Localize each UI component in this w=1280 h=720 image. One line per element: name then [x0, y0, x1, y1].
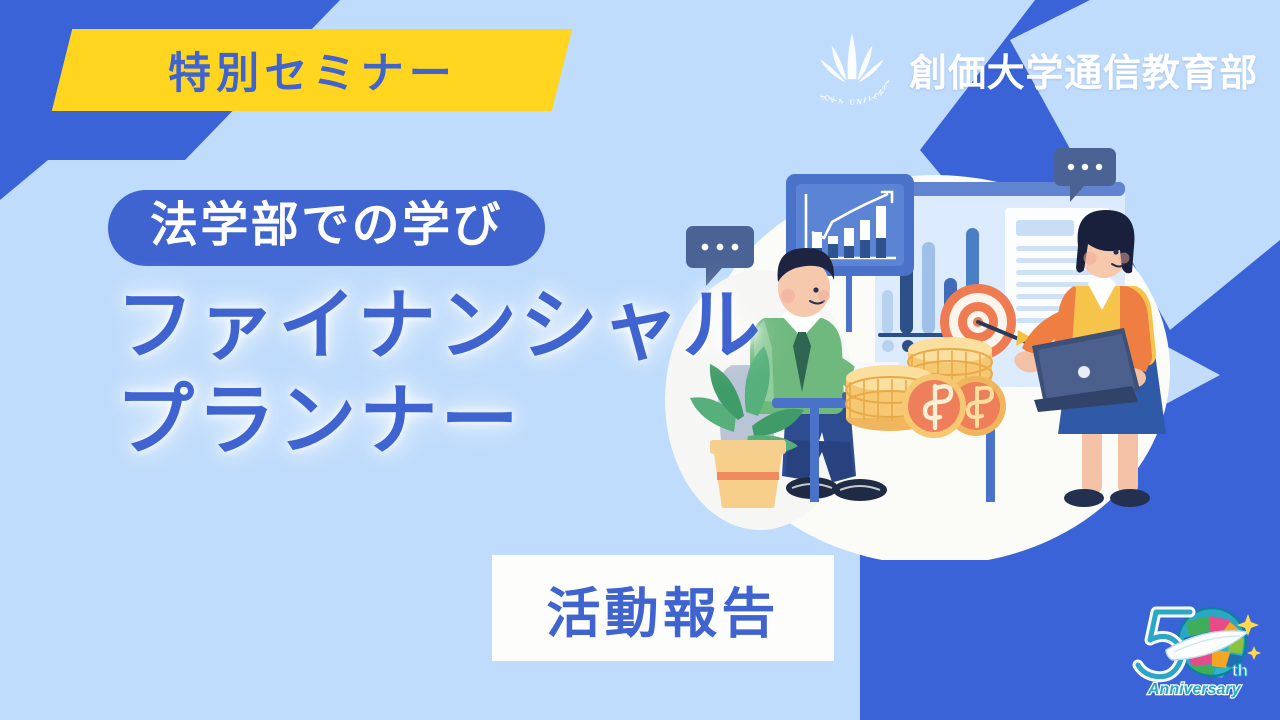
slide-canvas: 特別セミナー S O K A U N I [0, 0, 1280, 720]
anniversary-ordinal: th [1232, 661, 1248, 680]
anniversary-word: Anniversary [1147, 681, 1242, 698]
page-title: ファイナンシャル プランナー [116, 278, 763, 468]
svg-text:N: N [856, 97, 863, 107]
svg-text:A: A [837, 96, 845, 106]
report-label: 活動報告 [546, 569, 779, 648]
seminar-banner: 特別セミナー [52, 29, 572, 111]
page-title-line2: プランナー [116, 373, 763, 468]
faculty-pill-label: 法学部での学び [150, 199, 503, 252]
university-branding: S O K A U N I V E R S I 創価大学通信教育部 [809, 30, 1258, 108]
50th-anniversary-mosaic-globe-logo: th Anniversary [1126, 594, 1266, 706]
status-badge: 活動報告 [492, 555, 834, 661]
bottom-left-light-fill [0, 480, 480, 720]
page-title-line1: ファイナンシャル [116, 278, 763, 373]
soka-university-crest-icon: S O K A U N I V E R S I [809, 30, 895, 108]
seminar-banner-label: 特別セミナー [168, 39, 457, 101]
svg-text:U: U [849, 98, 855, 107]
university-name: 創価大学通信教育部 [909, 42, 1258, 97]
faculty-pill: 法学部での学び [108, 190, 545, 266]
